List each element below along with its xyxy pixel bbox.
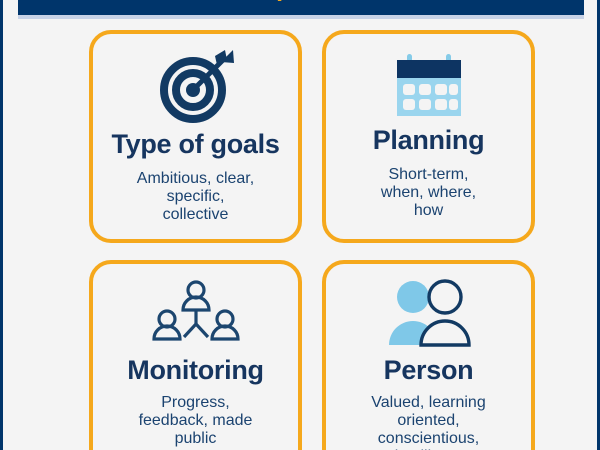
page-title: influence performance? bbox=[162, 0, 441, 2]
card-planning[interactable]: Planning Short-term, when, where, how bbox=[322, 30, 535, 243]
banner-shadow-strip bbox=[18, 15, 584, 19]
card-title: Type of goals bbox=[111, 130, 279, 158]
card-monitoring[interactable]: Monitoring Progress, feedback, made publ… bbox=[89, 260, 302, 450]
cards-grid: Type of goals Ambitious, clear, specific… bbox=[89, 30, 535, 450]
calendar-icon bbox=[391, 48, 467, 122]
org-people-icon bbox=[152, 278, 240, 350]
card-type-of-goals[interactable]: Type of goals Ambitious, clear, specific… bbox=[89, 30, 302, 243]
card-title: Person bbox=[384, 356, 474, 384]
target-arrow-icon bbox=[157, 48, 235, 126]
two-people-icon bbox=[383, 278, 475, 350]
card-description: Valued, learning oriented, conscientious… bbox=[363, 394, 493, 450]
card-description: Short-term, when, where, how bbox=[373, 166, 484, 220]
card-description: Ambitious, clear, specific, collective bbox=[129, 170, 262, 224]
title-banner: influence performance? bbox=[18, 0, 584, 15]
card-person[interactable]: Person Valued, learning oriented, consci… bbox=[322, 260, 535, 450]
card-description: Progress, feedback, made public bbox=[131, 394, 261, 448]
infographic-page: influence performance? Type of goals Amb… bbox=[0, 0, 600, 450]
card-title: Planning bbox=[373, 126, 485, 154]
card-title: Monitoring bbox=[127, 356, 263, 384]
